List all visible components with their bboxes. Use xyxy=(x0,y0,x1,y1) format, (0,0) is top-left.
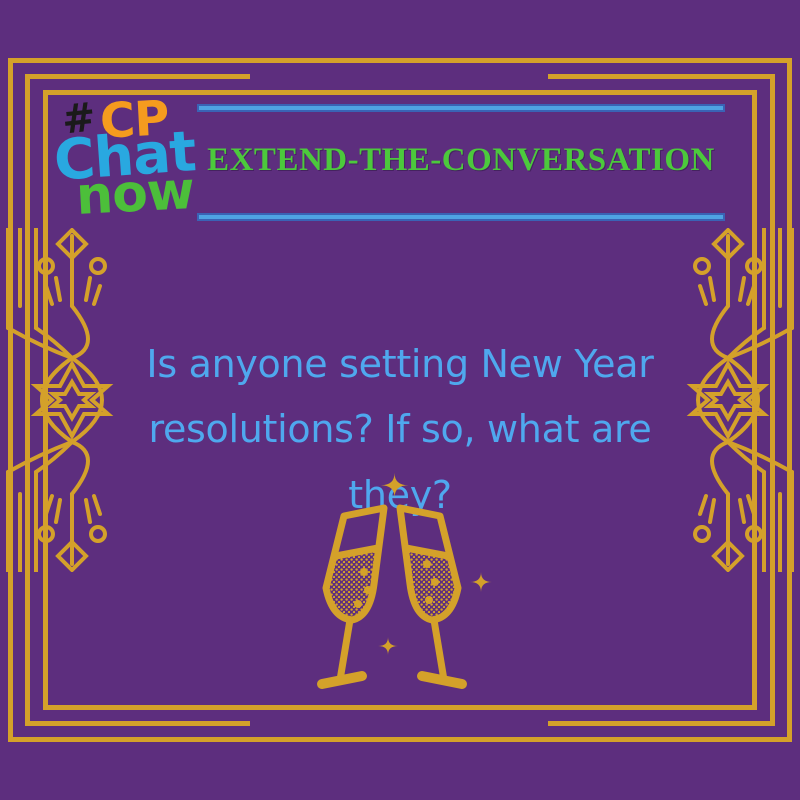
ornament-right-svg xyxy=(664,228,794,572)
ornament-left xyxy=(6,228,136,572)
champagne-glasses-icon xyxy=(300,468,520,690)
poster-canvas: # CP Chat now EXTEND-THE-CONVERSATION Is… xyxy=(0,0,800,800)
question-line-1: Is anyone setting New Year xyxy=(120,332,680,397)
frame-middle-border-top-right xyxy=(548,74,775,79)
ornament-right xyxy=(664,228,794,572)
frame-middle-border-top-left xyxy=(25,74,250,79)
header-rule-bottom xyxy=(197,213,725,221)
page-title: EXTEND-THE-CONVERSATION xyxy=(197,142,725,179)
cp-chat-now-logo: # CP Chat now xyxy=(58,96,198,218)
champagne-glasses-svg xyxy=(300,468,520,690)
ornament-left-svg xyxy=(6,228,136,572)
frame-middle-border-bottom-left xyxy=(25,721,250,726)
header-rule-top xyxy=(197,104,725,112)
frame-middle-border-bottom-right xyxy=(548,721,775,726)
logo-now-text: now xyxy=(75,161,196,227)
